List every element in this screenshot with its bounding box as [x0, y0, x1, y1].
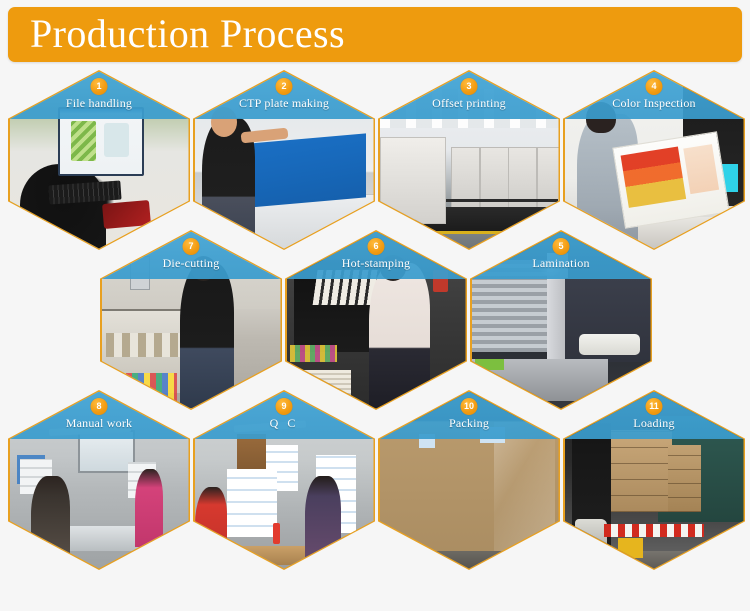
step-label-3: Offset printing: [380, 97, 559, 110]
step-label-9: Q C: [195, 417, 374, 430]
step-label-2: CTP plate making: [195, 97, 374, 110]
step-label-1: File handling: [10, 97, 189, 110]
step-hexagon-4[interactable]: Color Inspection 4: [563, 70, 745, 250]
step-number-badge-10: 10: [461, 398, 478, 415]
step-number-badge-5: 5: [553, 238, 570, 255]
step-number-badge-1: 1: [91, 78, 108, 95]
step-number-badge-2: 2: [276, 78, 293, 95]
step-hexagon-3[interactable]: Offset printing 3: [378, 70, 560, 250]
step-number-badge-7: 7: [183, 238, 200, 255]
hex-inner: Offset printing 3: [380, 72, 559, 249]
step-label-11: Loading: [565, 417, 744, 430]
step-hexagon-6[interactable]: Hot-stamping 6: [285, 230, 467, 410]
hex-inner: Color Inspection 4: [565, 72, 744, 249]
step-hexagon-5[interactable]: Lamination 5: [470, 230, 652, 410]
step-label-7: Die-cutting: [102, 257, 281, 270]
step-number-badge-4: 4: [646, 78, 663, 95]
hex-inner: Manual work 8: [10, 392, 189, 569]
step-number-badge-3: 3: [461, 78, 478, 95]
hex-inner: Q C 9: [195, 392, 374, 569]
step-label-6: Hot-stamping: [287, 257, 466, 270]
step-hexagon-1[interactable]: File handling 1: [8, 70, 190, 250]
hex-inner: Hot-stamping 6: [287, 232, 466, 409]
step-hexagon-2[interactable]: CTP plate making 2: [193, 70, 375, 250]
step-hexagon-9[interactable]: Q C 9: [193, 390, 375, 570]
hex-grid: File handling 1 CTP plate making 2: [0, 62, 750, 611]
hex-inner: File handling 1: [10, 72, 189, 249]
title-banner: Production Process: [8, 7, 742, 62]
step-number-badge-11: 11: [646, 398, 663, 415]
step-label-8: Manual work: [10, 417, 189, 430]
step-label-5: Lamination: [472, 257, 651, 270]
step-number-badge-8: 8: [91, 398, 108, 415]
hex-inner: Packing 10: [380, 392, 559, 569]
page-title: Production Process: [30, 13, 345, 55]
production-process-infographic: Production Process File handling 1 CTP p…: [0, 0, 750, 611]
step-label-4: Color Inspection: [565, 97, 744, 110]
hex-inner: CTP plate making 2: [195, 72, 374, 249]
step-label-10: Packing: [380, 417, 559, 430]
hex-inner: Die-cutting 7: [102, 232, 281, 409]
step-hexagon-7[interactable]: Die-cutting 7: [100, 230, 282, 410]
step-hexagon-8[interactable]: Manual work 8: [8, 390, 190, 570]
step-hexagon-10[interactable]: Packing 10: [378, 390, 560, 570]
hex-inner: Lamination 5: [472, 232, 651, 409]
hex-inner: Loading 11: [565, 392, 744, 569]
step-number-badge-6: 6: [368, 238, 385, 255]
step-number-badge-9: 9: [276, 398, 293, 415]
step-hexagon-11[interactable]: Loading 11: [563, 390, 745, 570]
